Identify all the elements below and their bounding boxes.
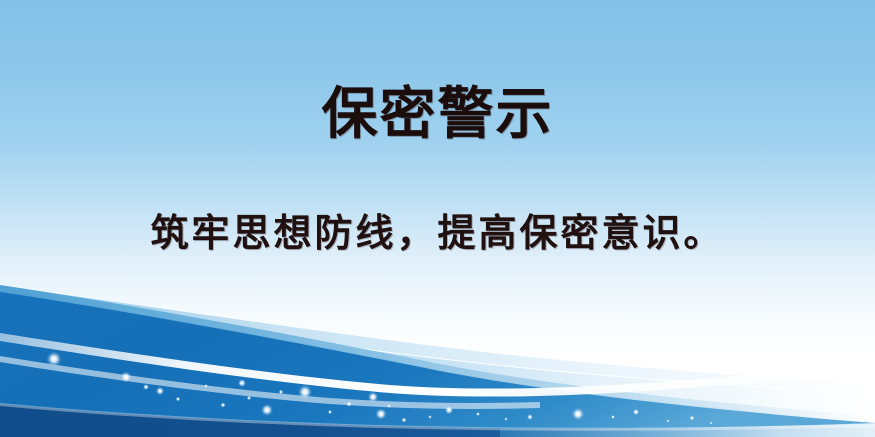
secrecy-warning-poster: 保密警示 筑牢思想防线，提高保密意识。 xyxy=(0,0,875,437)
poster-slogan: 筑牢思想防线，提高保密意识。 xyxy=(0,210,875,256)
page-title: 保密警示 xyxy=(0,84,875,146)
poster-text-layer: 保密警示 筑牢思想防线，提高保密意识。 xyxy=(0,0,875,437)
